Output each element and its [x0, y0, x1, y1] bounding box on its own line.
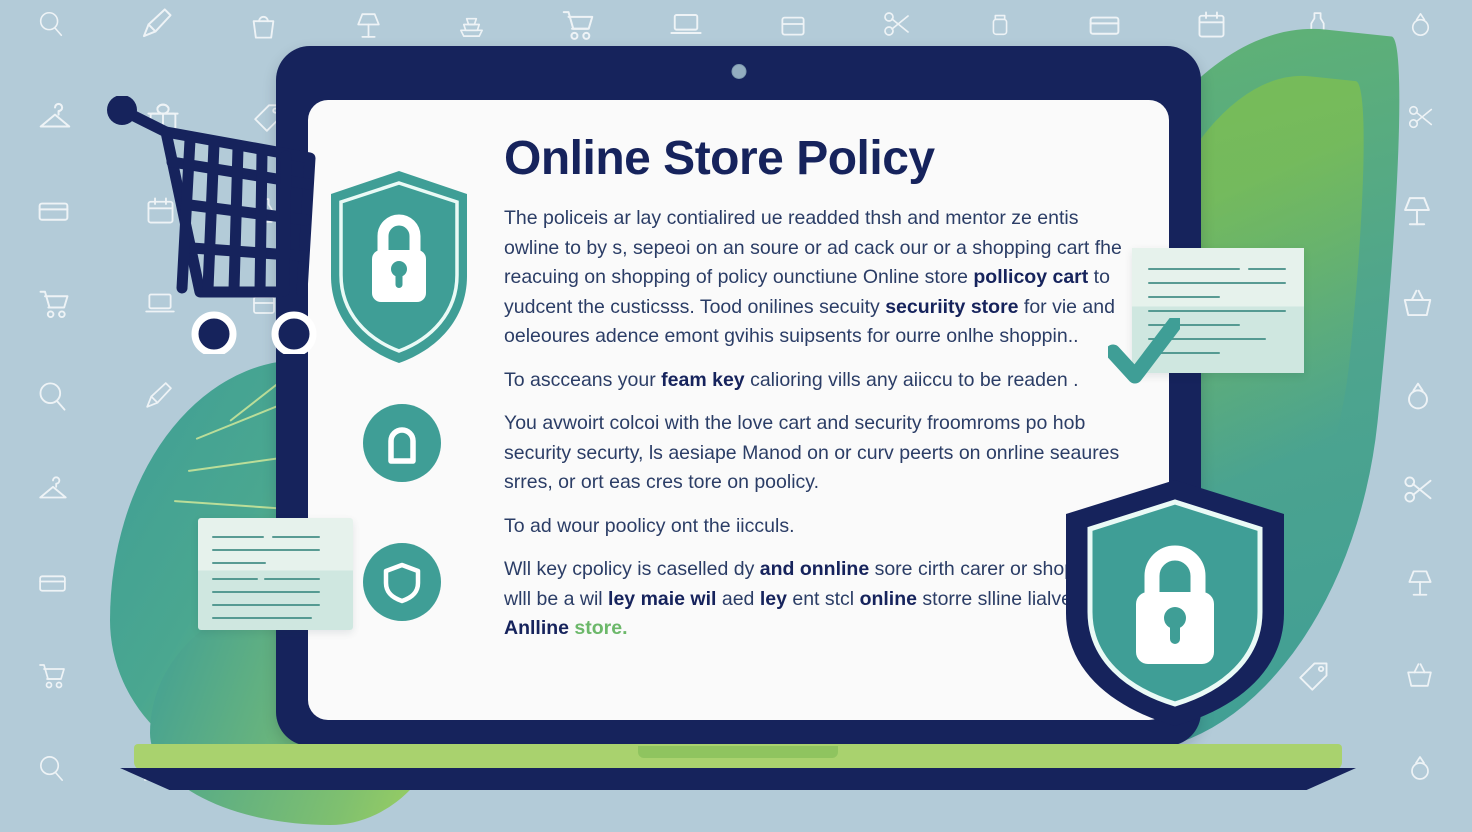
tag-icon: [985, 9, 1015, 39]
stack-icon: [776, 7, 810, 41]
basket-icon: [1297, 658, 1332, 693]
laptop-icon: [881, 8, 913, 40]
text-run: ley: [760, 588, 787, 610]
text-run: store.: [569, 617, 628, 639]
ring-icon: [35, 379, 70, 414]
page-title: Online Store Policy: [504, 134, 1131, 184]
document-card: [198, 518, 353, 630]
text-run: online: [860, 588, 917, 610]
laptop-icon: [35, 192, 72, 229]
text-run: To ad wour poolicy ont the iicculs.: [504, 515, 794, 537]
text-run: Anlline: [504, 617, 569, 639]
pen-icon: [1398, 191, 1436, 229]
shopping-cart-icon: [104, 96, 320, 354]
bird-icon: [36, 566, 69, 599]
text-run: ent stcl: [787, 588, 860, 610]
search-icon: [36, 9, 66, 39]
laptop-base: [134, 744, 1342, 770]
shirt-icon: [1403, 565, 1437, 599]
bottle-icon: [1399, 285, 1436, 322]
policy-paragraph: Wll key cpolicy is caselled dy and onnli…: [504, 555, 1131, 644]
cart-icon: [1404, 752, 1436, 784]
shield-lock-icon: [1062, 478, 1288, 728]
text-run: and onnline: [760, 558, 869, 580]
lamp-icon: [1401, 472, 1436, 507]
calendar-icon: [36, 98, 74, 136]
scissors-icon: [1403, 659, 1436, 692]
cart-icon: [559, 5, 597, 43]
bag-icon: [36, 285, 72, 321]
text-run: securiity store: [885, 296, 1018, 318]
basket-icon: [36, 472, 70, 506]
lamp-icon: [352, 8, 385, 41]
hanger-icon: [36, 659, 68, 691]
box-icon: [668, 6, 704, 42]
pen-icon: [137, 6, 174, 43]
illustration-canvas: Online Store Policy The policeis ar lay …: [0, 0, 1472, 832]
text-run: Wll key cpolicy is caselled dy: [504, 558, 760, 580]
padlock-icon: [363, 404, 441, 482]
card-icon: [1405, 9, 1436, 40]
text-run: calioring vills any aiiccu to be readen …: [745, 369, 1079, 391]
policy-paragraph: You avwoirt colcoi with the love cart an…: [504, 409, 1131, 498]
shirt-icon: [141, 380, 174, 413]
text-run: You avwoirt colcoi with the love cart an…: [504, 412, 1119, 493]
policy-paragraph: The policeis ar lay contialired ue readd…: [504, 204, 1131, 352]
text-run: feam key: [661, 369, 744, 391]
bag-icon: [246, 7, 281, 42]
tag-icon: [1400, 378, 1436, 414]
webcam-dot-icon: [731, 64, 746, 79]
shield-lock-icon: [328, 168, 470, 366]
bird-icon: [456, 9, 487, 40]
text-run: ley maie wil: [608, 588, 716, 610]
scissors-icon: [1194, 7, 1229, 42]
policy-paragraph: To ad wour poolicy ont the iicculs.: [504, 512, 1131, 542]
shield-icon: [363, 543, 441, 621]
background-icon-row: [0, 4, 1472, 44]
laptop-foot: [120, 768, 1356, 790]
policy-paragraph: To ascceans your feam key calioring vill…: [504, 366, 1131, 396]
basket-icon: [1086, 6, 1123, 43]
text-run: To ascceans your: [504, 369, 661, 391]
jar-icon: [36, 753, 67, 784]
text-run: aed: [716, 588, 759, 610]
stack-icon: [1406, 102, 1436, 132]
laptop-base-lip: [638, 746, 838, 758]
checkmark-icon: [1108, 318, 1180, 384]
text-run: pollicoy cart: [973, 266, 1088, 288]
